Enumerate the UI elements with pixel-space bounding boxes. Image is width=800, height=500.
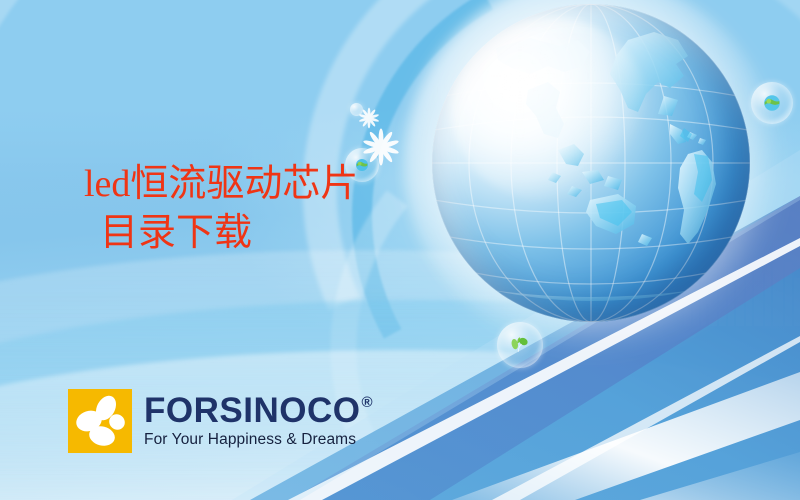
- bubble-tiny: [350, 103, 363, 116]
- registered-mark: ®: [361, 395, 373, 410]
- four-petal-pinwheel-icon: [68, 389, 132, 453]
- green-leaf-icon: [507, 332, 533, 358]
- headline-text: led恒流驱动芯片 目录下载: [84, 160, 504, 257]
- bubble-leaf: [497, 322, 543, 368]
- headline-line-1: led恒流驱动芯片: [84, 160, 504, 209]
- brand-name: FORSINOCO: [144, 393, 360, 428]
- mini-globe-icon: [761, 92, 783, 114]
- headline-line-2: 目录下载: [84, 209, 504, 258]
- logo-mark: [68, 389, 132, 453]
- brand-logo[interactable]: FORSINOCO ® For Your Happiness & Dreams: [68, 389, 373, 453]
- logo-text-block: FORSINOCO ® For Your Happiness & Dreams: [144, 393, 373, 449]
- banner-canvas: led恒流驱动芯片 目录下载 FORSINOCO ® For Your Happ…: [0, 0, 800, 500]
- bubble-globe-right: [751, 82, 793, 124]
- brand-name-row: FORSINOCO ®: [144, 393, 373, 428]
- brand-tagline: For Your Happiness & Dreams: [144, 431, 373, 449]
